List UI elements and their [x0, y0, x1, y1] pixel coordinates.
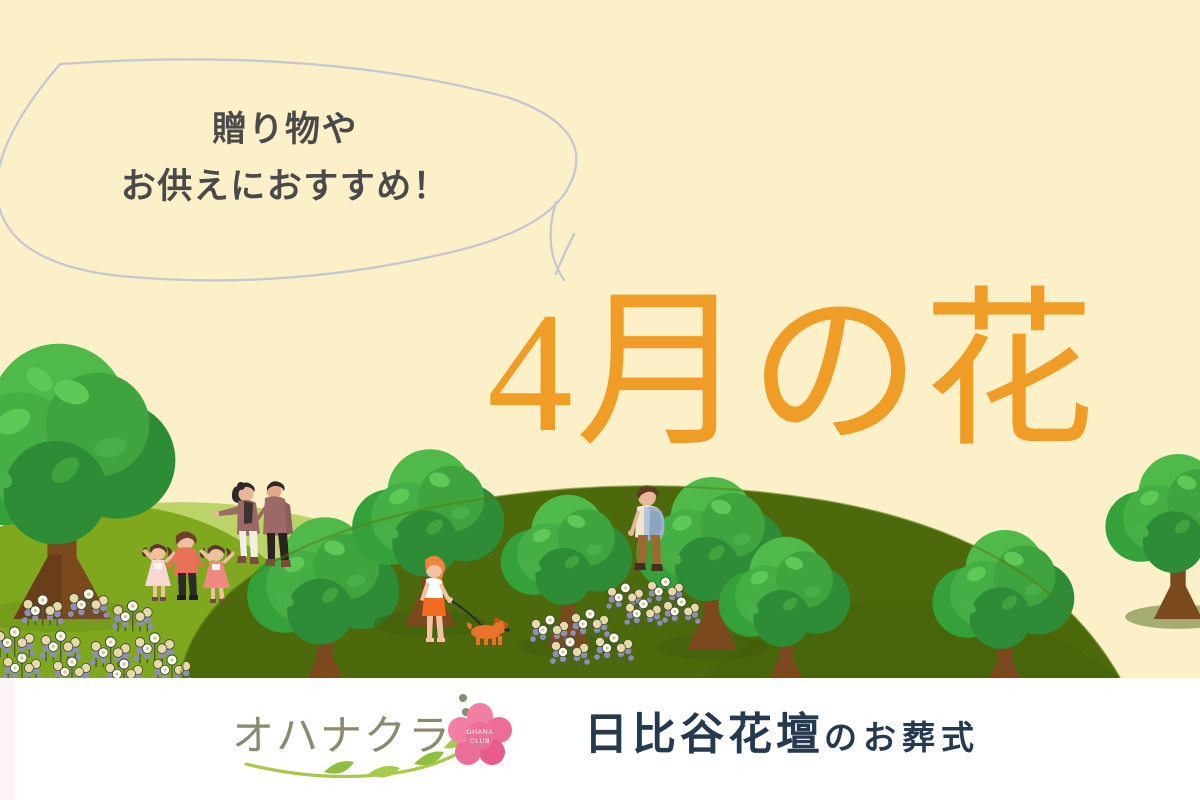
hibiya-kadan-text: 日比谷花壇のお葬式: [584, 698, 980, 762]
flower-text-line2: CLUB: [470, 738, 491, 745]
page-title: 4月の花: [487, 282, 1097, 464]
ohana-club-flower-mark: OHANA CLUB: [228, 690, 518, 782]
flower-text-line1: OHANA: [466, 729, 493, 736]
speech-bubble-text: 贈り物や お供えにおすすめ！: [50, 102, 520, 215]
footer-left-accent-strip: [0, 678, 14, 800]
poster-canvas: 贈り物や お供えにおすすめ！ 4月の花 オハナクラブ: [0, 0, 1200, 800]
bubble-line-2: お供えにおすすめ！: [50, 159, 520, 216]
bubble-line-1: 贈り物や: [50, 102, 520, 159]
hibiya-kadan-main: 日比谷花壇: [584, 709, 824, 760]
hibiya-kadan-sub: のお葬式: [824, 718, 980, 757]
ohana-club-logo[interactable]: オハナクラブ OHANA: [228, 690, 518, 782]
speech-bubble: 贈り物や お供えにおすすめ！: [0, 52, 610, 302]
footer-logo-bar: オハナクラブ OHANA: [0, 678, 1200, 800]
hibiya-kadan-logo[interactable]: 日比谷花壇のお葬式: [584, 694, 1074, 774]
